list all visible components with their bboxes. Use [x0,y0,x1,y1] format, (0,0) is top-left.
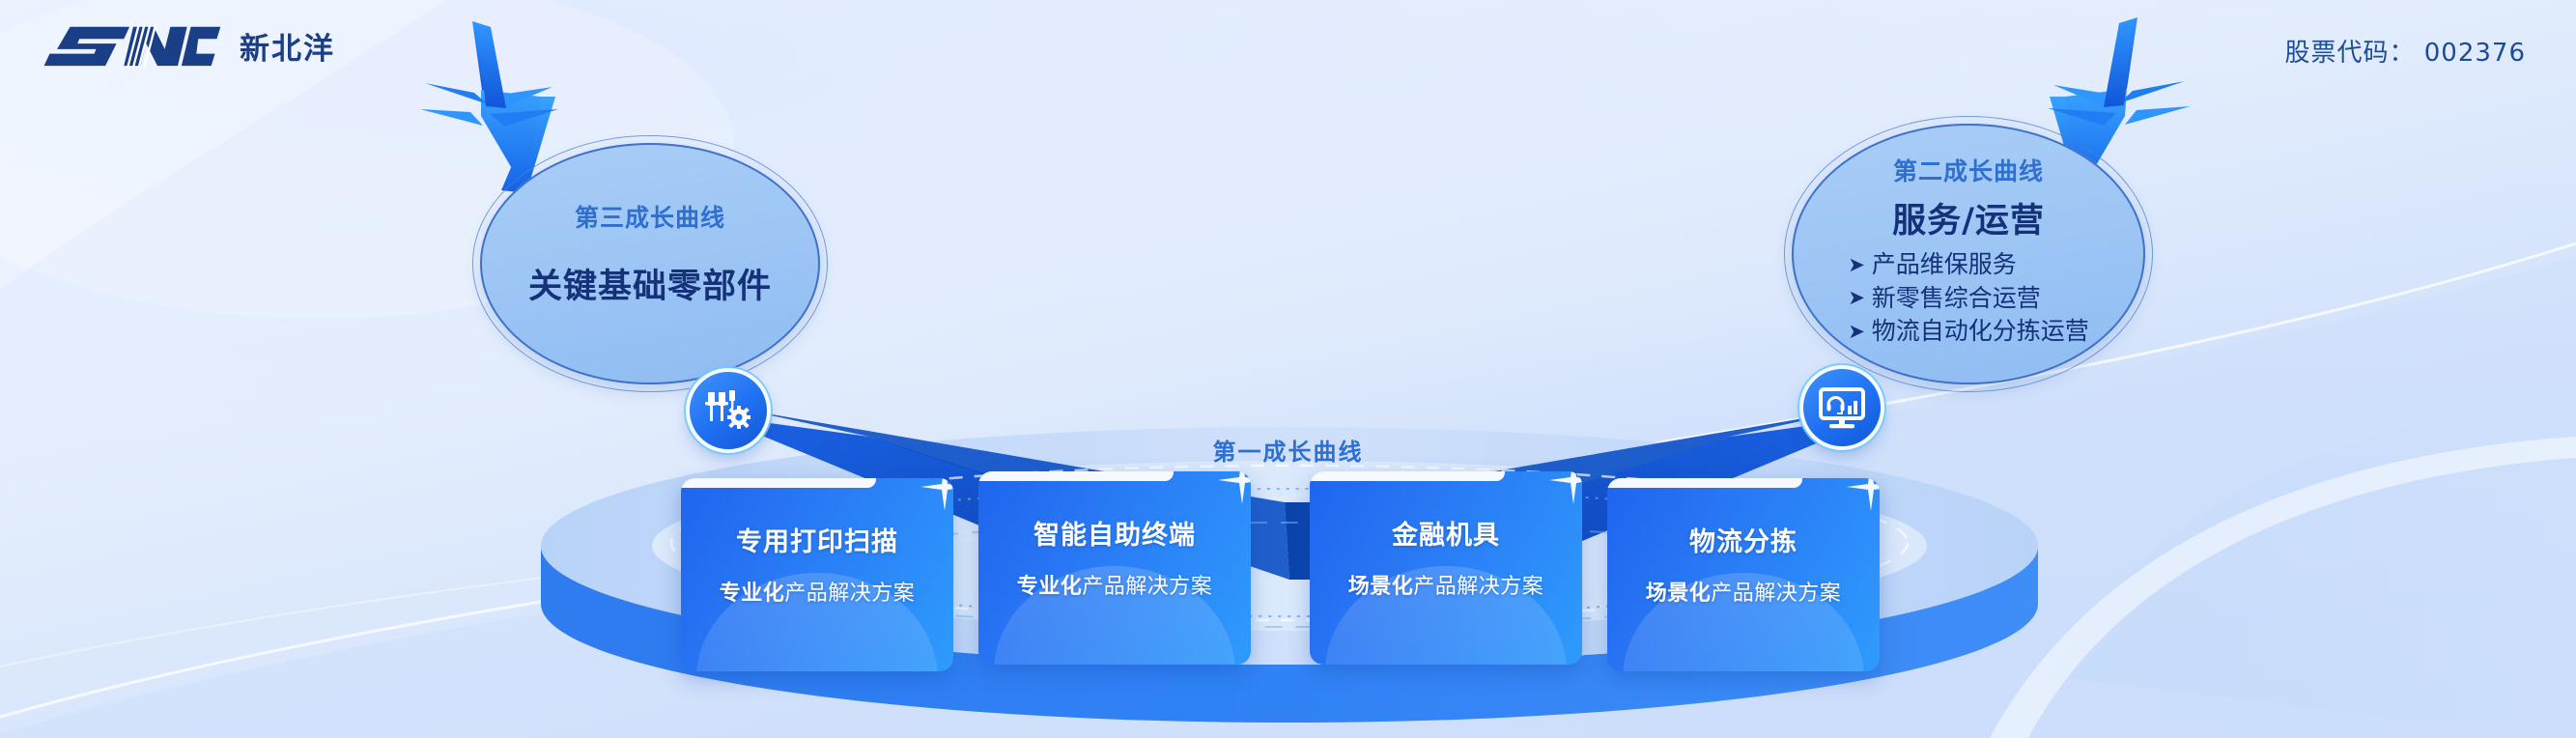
product-card-desc: 专业化产品解决方案 [720,576,916,607]
brand-name-cn: 新北洋 [240,24,335,68]
second-curve-bullet-list: ➤产品维保服务➤新零售综合运营➤物流自动化分拣运营 [1848,248,2089,349]
product-card[interactable]: 专用打印扫描专业化产品解决方案 [681,478,953,671]
bullet-arrow-icon: ➤ [1848,322,1865,342]
product-card-desc-rest: 产品解决方案 [784,582,915,606]
second-curve-bullet: ➤物流自动化分拣运营 [1848,315,2089,349]
brand-logo: 新北洋 [37,21,335,70]
stock-code: 股票代码： 002376 [2284,33,2526,69]
second-curve-bullet: ➤新零售综合运营 [1848,282,2089,316]
bullet-arrow-icon: ➤ [1848,255,1865,275]
product-card[interactable]: 智能自助终端专业化产品解决方案 [978,471,1251,665]
product-card-title: 金融机具 [1392,514,1500,552]
snbc-logo-icon [37,21,226,70]
product-card-title: 物流分拣 [1689,521,1798,558]
product-card-desc-strong: 场景化 [1348,575,1414,599]
product-card-title: 智能自助终端 [1033,514,1196,552]
product-card-desc-rest: 产品解决方案 [1413,575,1543,599]
product-card-desc: 专业化产品解决方案 [1017,569,1213,600]
second-growth-curve-bubble[interactable]: 第二成长曲线 服务/运营 ➤产品维保服务➤新零售综合运营➤物流自动化分拣运营 [1792,124,2145,384]
product-card[interactable]: 金融机具场景化产品解决方案 [1310,471,1582,665]
third-curve-label: 第三成长曲线 [575,199,725,234]
bullet-arrow-icon: ➤ [1848,288,1865,308]
product-card-desc-strong: 专业化 [720,582,785,606]
product-card-desc-strong: 专业化 [1017,575,1083,599]
infographic-canvas: 新北洋 股票代码： 002376 第三成长曲线 关键基础零部件 第二成长曲线 服… [0,0,2576,738]
second-curve-label: 第二成长曲线 [1893,153,2044,187]
growth-platform-ring [0,0,2576,738]
product-card-desc: 场景化产品解决方案 [1646,576,1842,607]
second-curve-bullet-text: 物流自动化分拣运营 [1872,315,2089,349]
third-curve-title: 关键基础零部件 [528,259,772,308]
product-card-title: 专用打印扫描 [736,521,898,558]
second-curve-bullet-text: 产品维保服务 [1872,248,2017,282]
sliders-gear-glyph [702,384,754,437]
second-curve-bullet: ➤产品维保服务 [1848,248,2089,282]
product-card-desc-rest: 产品解决方案 [1082,575,1212,599]
third-growth-curve-bubble[interactable]: 第三成长曲线 关键基础零部件 [480,143,820,384]
product-card[interactable]: 物流分拣场景化产品解决方案 [1607,478,1880,671]
product-card-desc-rest: 产品解决方案 [1711,582,1841,606]
monitor-headset-chart-glyph [1816,382,1868,434]
second-curve-title: 服务/运营 [1892,193,2045,242]
product-card-desc: 场景化产品解决方案 [1348,569,1544,600]
first-curve-label: 第一成长曲线 [0,433,2576,467]
product-card-desc-strong: 场景化 [1646,582,1712,606]
second-curve-bullet-text: 新零售综合运营 [1872,282,2041,316]
